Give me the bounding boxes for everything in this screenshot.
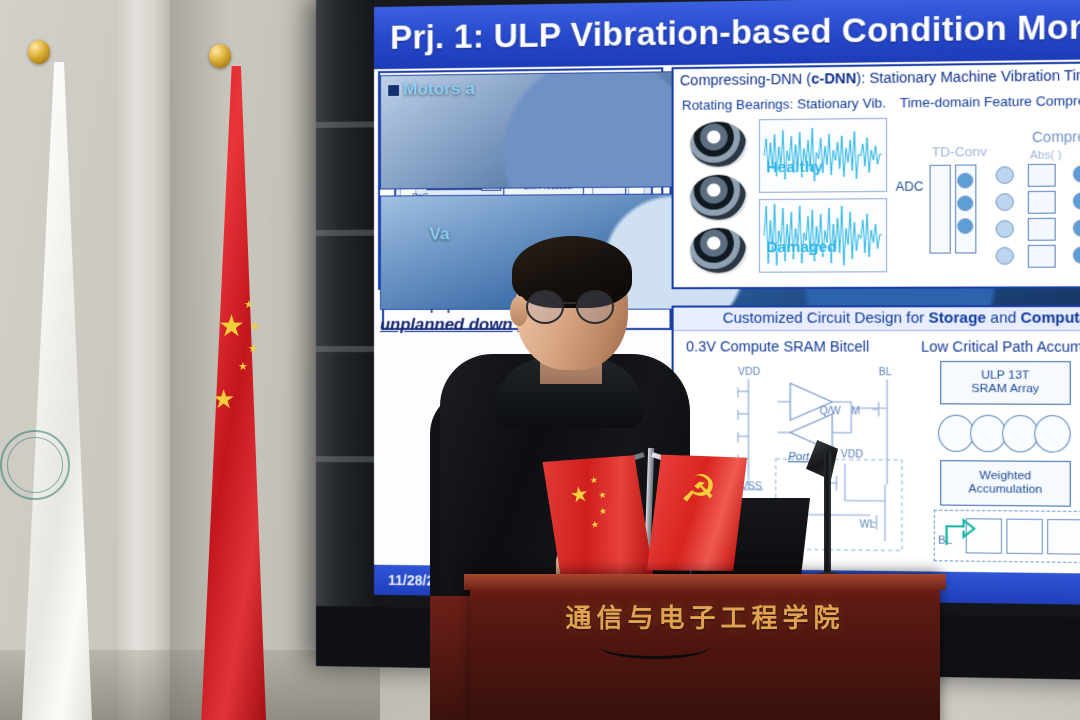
cdnn-heading-a: Compressing-DNN ( xyxy=(680,70,811,88)
desk-flag-star-2: ★ xyxy=(598,490,607,500)
desk-flag-star-3: ★ xyxy=(598,507,607,517)
podium-cable xyxy=(600,634,710,659)
panel-cdnn: Compressing-DNN (c-DNN): Stationary Mach… xyxy=(672,60,1080,289)
podium-top-edge xyxy=(464,574,946,590)
glasses-bridge xyxy=(560,302,576,304)
flag-star-lower: ★ xyxy=(212,386,235,412)
presenter-glasses xyxy=(526,290,630,320)
bearing-3 xyxy=(690,228,746,273)
cdnn-heading-b: c-DNN xyxy=(811,70,856,87)
waveform-damaged: Damaged xyxy=(759,198,887,273)
desk-flag-star-4: ★ xyxy=(590,520,599,530)
accum-sram-array: ULP 13T SRAM Array xyxy=(940,361,1071,405)
dff-green-marker xyxy=(942,514,978,558)
flag-star-small-2: ★ xyxy=(250,322,260,333)
podium-microphone-stand xyxy=(824,452,831,592)
cdnn-sub-right: Time-domain Feature Compression for S xyxy=(896,92,1080,111)
desk-flag-cpc: ☭ xyxy=(647,447,747,581)
circuits-heading: Customized Circuit Design for Storage an… xyxy=(674,307,1080,331)
podium-institution-name: 通信与电子工程学院 xyxy=(470,598,940,635)
bearing-2 xyxy=(690,175,746,220)
circ-head-b: Storage xyxy=(929,310,987,327)
flag-star-small-1: ★ xyxy=(244,300,254,311)
accum-weighted: Weighted Accumulation xyxy=(940,460,1071,507)
display-bezel-left xyxy=(316,0,374,667)
waveform-healthy-label: Healthy xyxy=(766,159,823,177)
glasses-lens-left xyxy=(526,290,564,324)
circ-head-d: Computation xyxy=(1021,310,1080,327)
pipeline-abs-label: Abs( ) xyxy=(1030,149,1062,162)
nn-input-col xyxy=(930,165,951,254)
pipeline-adc-label: ADC xyxy=(896,179,924,194)
university-seal-emblem xyxy=(0,430,70,500)
circ-head-a: Customized Circuit Design for xyxy=(723,310,929,327)
motors-bullet-icon xyxy=(387,84,400,97)
pipeline-tdconv-label: TD-Conv xyxy=(932,144,987,160)
circ-head-c: and xyxy=(986,310,1021,327)
flag-star-main: ★ xyxy=(218,312,245,342)
cdnn-sub-left: Rotating Bearings: Stationary Vib. xyxy=(678,95,886,113)
photo-motors-caption: Motors a xyxy=(403,79,475,100)
bearing-1 xyxy=(690,121,746,166)
pipeline-compress-label: Compress Fea. xyxy=(1032,128,1080,146)
hammer-sickle-icon: ☭ xyxy=(679,468,719,512)
flag-star-small-4: ★ xyxy=(238,362,248,373)
wall-column xyxy=(118,0,170,720)
desk-flag-star-1: ★ xyxy=(589,476,598,486)
cdnn-heading-c: ): Stationary Machine Vibration Time-ser… xyxy=(856,66,1080,86)
flag-star-small-3: ★ xyxy=(248,344,258,355)
waveform-damaged-label: Damaged xyxy=(766,239,837,257)
accumulator-title: Low Critical Path Accumulator xyxy=(917,338,1080,355)
presentation-scene: ★ ★ ★ ★ ★ ★ Prj. 1: ULP Vibration-based … xyxy=(0,0,1080,720)
slide-title: Prj. 1: ULP Vibration-based Condition Mo… xyxy=(374,0,1080,69)
desk-flag-star-main: ★ xyxy=(569,483,591,507)
finial-gold-ball-left xyxy=(28,40,50,64)
waveform-healthy: Healthy xyxy=(759,118,887,193)
bitcell-title: 0.3V Compute SRAM Bitcell xyxy=(682,338,869,355)
glasses-lens-right xyxy=(576,290,614,324)
finial-gold-ball-right xyxy=(209,44,231,68)
cdnn-heading: Compressing-DNN (c-DNN): Stationary Mach… xyxy=(674,63,1080,92)
